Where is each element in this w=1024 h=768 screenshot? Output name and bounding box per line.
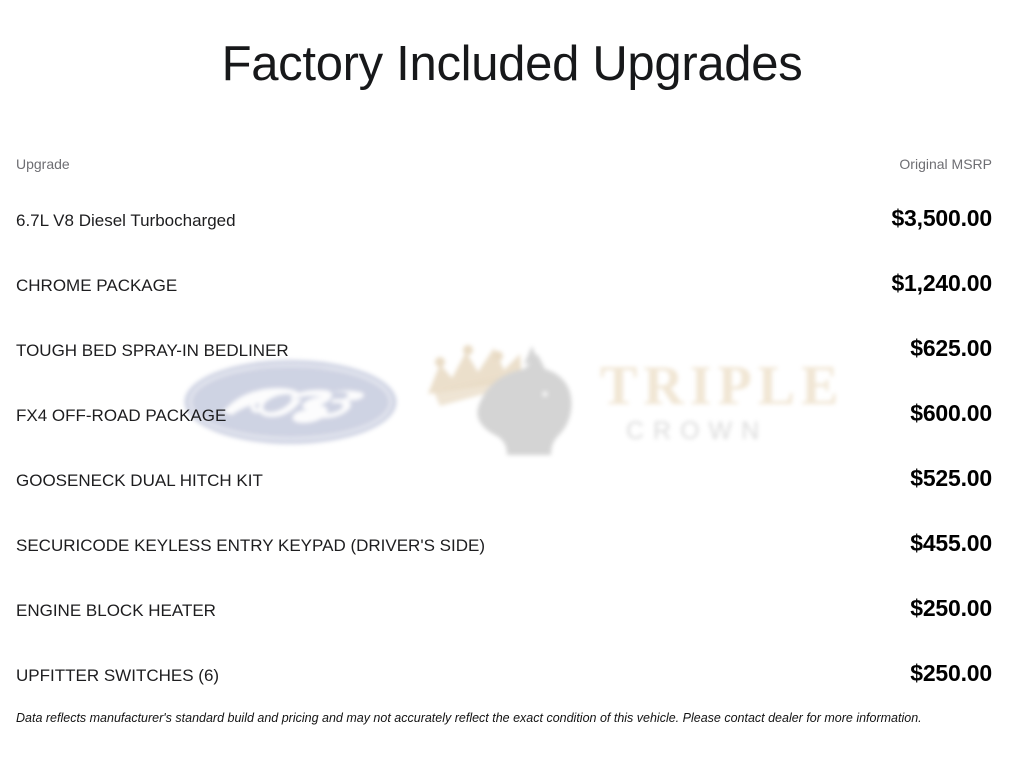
table-row: FX4 OFF-ROAD PACKAGE $600.00 <box>0 400 1024 465</box>
upgrade-name: 6.7L V8 Diesel Turbocharged <box>16 210 236 232</box>
upgrade-name: FX4 OFF-ROAD PACKAGE <box>16 405 226 427</box>
upgrade-name: SECURICODE KEYLESS ENTRY KEYPAD (DRIVER'… <box>16 535 485 557</box>
upgrade-price: $250.00 <box>910 660 992 686</box>
upgrade-name: UPFITTER SWITCHES (6) <box>16 665 219 687</box>
disclaimer-text: Data reflects manufacturer's standard bu… <box>16 710 1008 726</box>
column-header-upgrade: Upgrade <box>16 155 70 173</box>
table-row: GOOSENECK DUAL HITCH KIT $525.00 <box>0 465 1024 530</box>
upgrade-name: ENGINE BLOCK HEATER <box>16 600 216 622</box>
table-row: CHROME PACKAGE $1,240.00 <box>0 270 1024 335</box>
upgrade-price: $525.00 <box>910 465 992 491</box>
upgrade-price: $3,500.00 <box>891 205 992 231</box>
upgrade-name: CHROME PACKAGE <box>16 275 177 297</box>
upgrade-name: GOOSENECK DUAL HITCH KIT <box>16 470 263 492</box>
upgrade-price: $625.00 <box>910 335 992 361</box>
column-header-original-msrp: Original MSRP <box>899 155 992 173</box>
upgrade-price: $455.00 <box>910 530 992 556</box>
table-row: 6.7L V8 Diesel Turbocharged $3,500.00 <box>0 205 1024 270</box>
upgrade-price: $250.00 <box>910 595 992 621</box>
upgrade-price: $1,240.00 <box>891 270 992 296</box>
upgrades-table: Upgrade Original MSRP 6.7L V8 Diesel Tur… <box>0 155 1024 725</box>
upgrade-name: TOUGH BED SPRAY-IN BEDLINER <box>16 340 289 362</box>
page-title: Factory Included Upgrades <box>0 33 1024 95</box>
upgrades-page: TRIPLE CROWN Factory Included Upgrades U… <box>0 0 1024 768</box>
upgrade-price: $600.00 <box>910 400 992 426</box>
table-row: ENGINE BLOCK HEATER $250.00 <box>0 595 1024 660</box>
table-row: SECURICODE KEYLESS ENTRY KEYPAD (DRIVER'… <box>0 530 1024 595</box>
table-row: TOUGH BED SPRAY-IN BEDLINER $625.00 <box>0 335 1024 400</box>
table-header-row: Upgrade Original MSRP <box>0 155 1024 205</box>
